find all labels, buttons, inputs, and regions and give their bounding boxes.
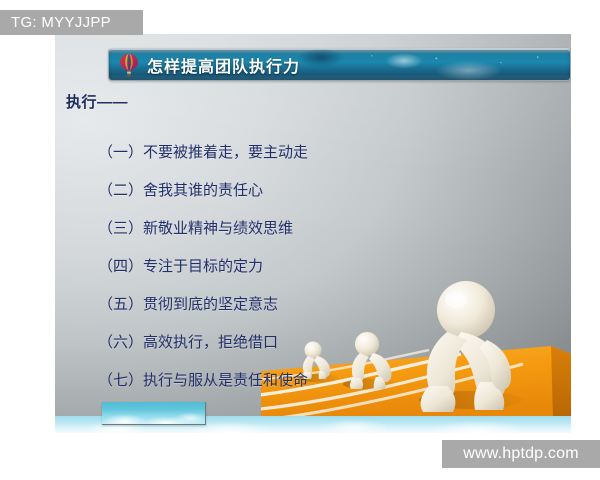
bullet-list: （一）不要被推着走，要主动走 （二）舍我其谁的责任心 （三）新敬业精神与绩效思维… xyxy=(98,134,308,400)
slide-surface: 怎样提高团队执行力 执行—— （一）不要被推着走，要主动走 （二）舍我其谁的责任… xyxy=(55,34,571,433)
slide-title-banner: 怎样提高团队执行力 xyxy=(108,48,571,81)
list-item: （四）专注于目标的定力 xyxy=(98,248,308,286)
cloud-accent-box xyxy=(102,402,206,425)
watermark-bottom-badge: www.hptdp.com xyxy=(442,440,600,468)
runner-hand-left xyxy=(421,386,456,412)
section-heading: 执行—— xyxy=(66,91,128,112)
list-item: （六）高效执行，拒绝借口 xyxy=(98,324,308,362)
list-item: （七）执行与服从是责任和使命 xyxy=(98,362,308,400)
list-item: （三）新敬业精神与绩效思维 xyxy=(98,210,308,248)
list-item: （二）舍我其谁的责任心 xyxy=(98,172,308,210)
list-item: （五）贯彻到底的坚定意志 xyxy=(98,286,308,324)
track-edge xyxy=(551,346,571,418)
watermark-top-badge: TG: MYYJJPP xyxy=(0,10,143,35)
slide-title: 怎样提高团队执行力 xyxy=(147,53,300,77)
list-item: （一）不要被推着走，要主动走 xyxy=(98,134,308,172)
hot-air-balloon-icon xyxy=(118,52,140,78)
page-canvas: 怎样提高团队执行力 执行—— （一）不要被推着走，要主动走 （二）舍我其谁的责任… xyxy=(0,0,600,480)
